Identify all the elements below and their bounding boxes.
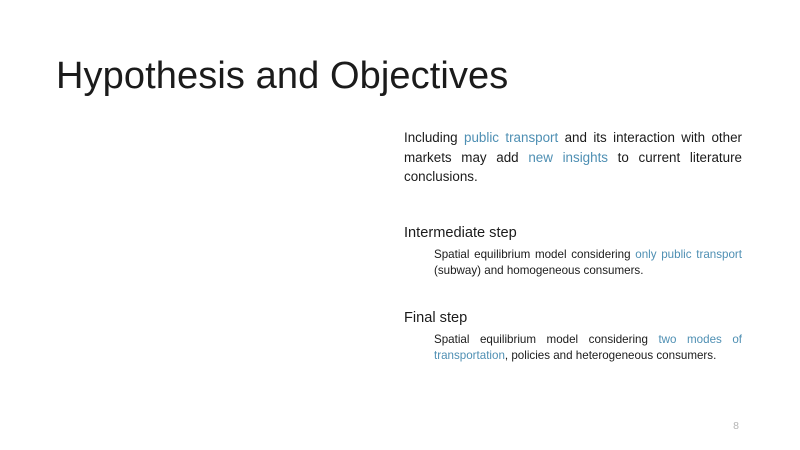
presentation-slide: Hypothesis and Objectives Including publ…: [0, 0, 800, 450]
step-heading-intermediate: Intermediate step: [404, 223, 742, 243]
intro-highlight-public-transport: public transport: [464, 130, 558, 145]
step-detail-text-part-2: , policies and heterogeneous consumers.: [505, 349, 716, 362]
content-body: Including public transport and its inter…: [404, 128, 742, 365]
step-detail-highlight-only-public-transport: only public transport: [635, 248, 742, 261]
step-detail-text-part-2: (subway) and homogeneous consumers.: [434, 264, 643, 277]
step-detail-text-part-1: Spatial equilibrium model considering: [434, 248, 635, 261]
step-detail-text-part-1: Spatial equilibrium model considering: [434, 333, 658, 346]
step-heading-final: Final step: [404, 308, 742, 328]
page-number: 8: [726, 420, 746, 432]
step-intermediate: Intermediate step Spatial equilibrium mo…: [404, 223, 742, 280]
intro-text-part-1: Including: [404, 130, 464, 145]
step-detail-intermediate: Spatial equilibrium model considering on…: [434, 247, 742, 280]
step-detail-final: Spatial equilibrium model considering tw…: [434, 332, 742, 365]
step-final: Final step Spatial equilibrium model con…: [404, 308, 742, 365]
intro-paragraph: Including public transport and its inter…: [404, 128, 742, 187]
page-title: Hypothesis and Objectives: [56, 55, 508, 98]
intro-highlight-new-insights: new insights: [528, 150, 608, 165]
